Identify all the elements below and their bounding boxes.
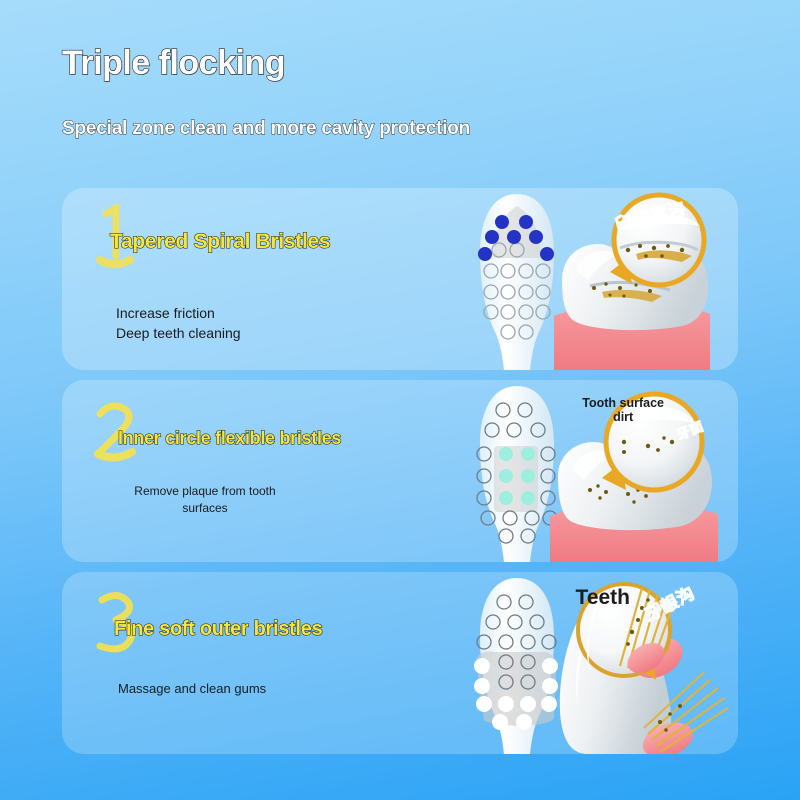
molar-tooth-fissure-icon <box>532 188 738 370</box>
card-2-body-line-1: Remove plaque from tooth <box>110 483 300 500</box>
card-2-en-label-line-1: Tooth surface <box>582 396 664 410</box>
card-3-body: Massage and clean gums <box>118 680 266 699</box>
page-subtitle: Special zone clean and more cavity prote… <box>62 118 762 140</box>
card-2-body-line-2: surfaces <box>110 500 300 517</box>
card-2-heading: Inner circle flexible bristles <box>118 428 341 449</box>
card-3-en-label: Teeth <box>576 586 630 610</box>
card-2-en-label: Tooth surface dirt <box>582 396 664 425</box>
page-title: Triple flocking <box>62 46 762 80</box>
tooth-gumline-brushing-icon <box>532 572 738 754</box>
card-2-body: Remove plaque from tooth surfaces <box>110 483 300 518</box>
feature-card-3[interactable]: Fine soft outer bristles Massage and cle… <box>62 572 738 754</box>
card-1-body: Increase friction Deep teeth cleaning <box>116 303 241 344</box>
feature-card-1[interactable]: Tapered Spiral Bristles Increase frictio… <box>62 188 738 370</box>
card-3-heading: Fine soft outer bristles <box>114 618 322 641</box>
card-1-body-line-2: Deep teeth cleaning <box>116 323 241 343</box>
card-1-body-line-1: Increase friction <box>116 303 241 323</box>
feature-card-2[interactable]: Inner circle flexible bristles Remove pl… <box>62 380 738 562</box>
card-1-heading: Tapered Spiral Bristles <box>110 230 330 254</box>
card-2-en-label-line-2: dirt <box>582 410 664 424</box>
page-header: Triple flocking Special zone clean and m… <box>62 46 762 140</box>
card-3-body-line-1: Massage and clean gums <box>118 680 266 699</box>
